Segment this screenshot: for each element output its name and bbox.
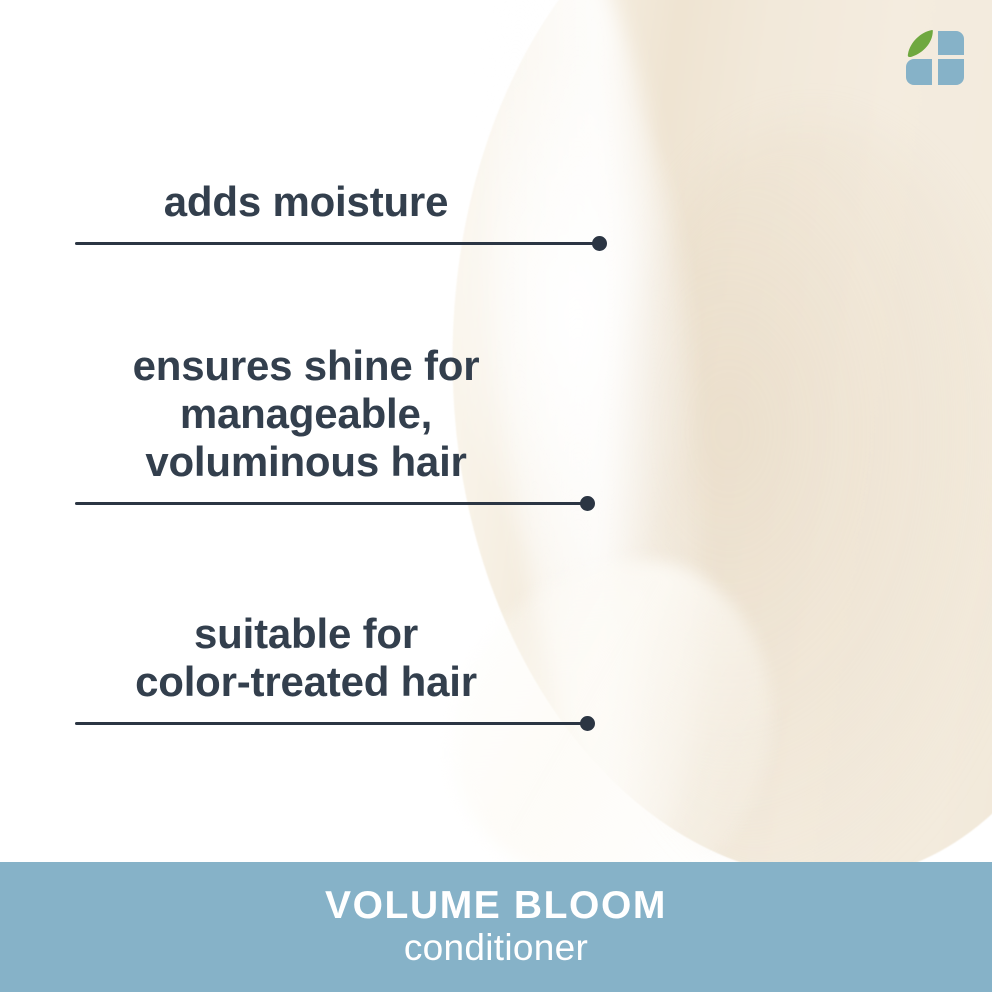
logo-square-top-right xyxy=(938,31,964,55)
leader-dot-icon xyxy=(580,716,595,731)
callout-color-treated: suitable for color-treated hair xyxy=(0,610,620,730)
leader-line xyxy=(75,502,588,505)
logo-square-bottom-left xyxy=(906,59,932,85)
leader-line xyxy=(75,242,600,245)
product-subtitle: conditioner xyxy=(404,928,588,969)
leader-dot-icon xyxy=(592,236,607,251)
callout-label: adds moisture xyxy=(0,178,620,226)
callout-label: suitable for color-treated hair xyxy=(0,610,620,706)
cream-blob-shadow xyxy=(600,120,992,900)
leader-dot-icon xyxy=(580,496,595,511)
leader-line xyxy=(75,722,588,725)
infographic-canvas: adds moisture ensures shine for manageab… xyxy=(0,0,992,992)
callout-leader xyxy=(0,496,620,510)
logo-square-bottom-right xyxy=(938,59,964,85)
callout-leader xyxy=(0,236,620,250)
callout-label: ensures shine for manageable, voluminous… xyxy=(0,342,620,486)
callout-adds-moisture: adds moisture xyxy=(0,178,620,250)
brand-logo xyxy=(901,24,969,92)
product-title: VOLUME BLOOM xyxy=(325,885,667,926)
leaf-icon xyxy=(908,30,933,57)
callout-ensures-shine: ensures shine for manageable, voluminous… xyxy=(0,342,620,510)
callout-leader xyxy=(0,716,620,730)
product-name-banner: VOLUME BLOOM conditioner xyxy=(0,862,992,992)
